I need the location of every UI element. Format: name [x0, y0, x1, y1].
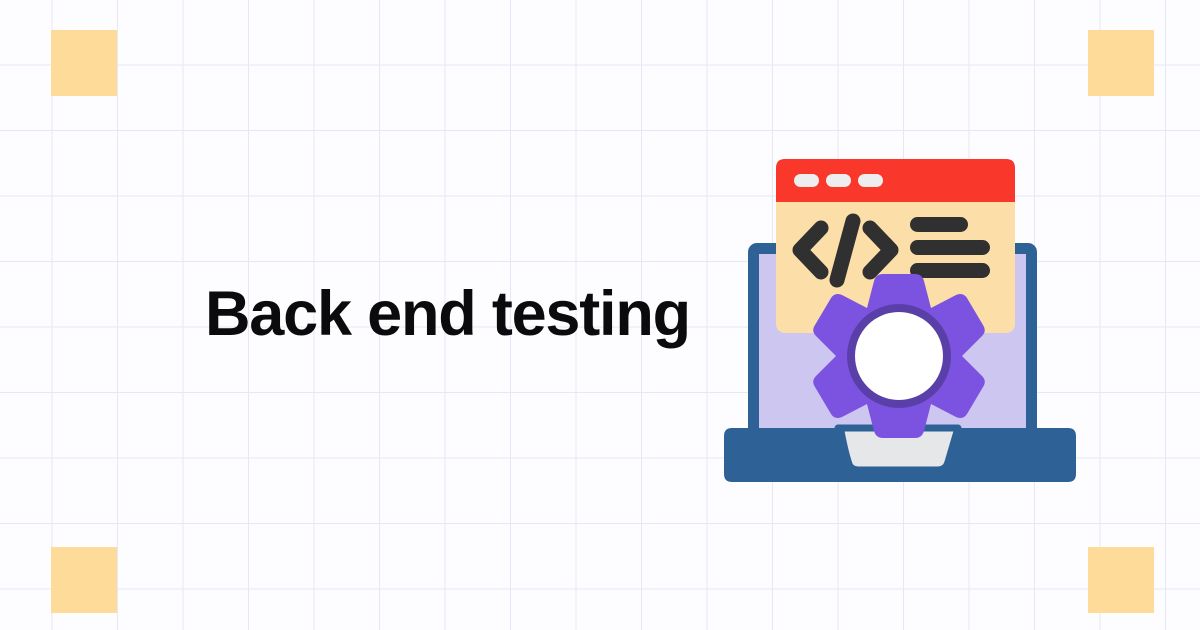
accent-square-top-right	[1088, 30, 1154, 96]
content-line-3	[910, 263, 990, 278]
gear-center	[855, 312, 943, 400]
laptop-code-gear-illustration	[720, 140, 1080, 490]
content-line-1	[910, 217, 968, 232]
browser-dot-minimize	[826, 174, 851, 187]
accent-square-bottom-right	[1088, 547, 1154, 613]
gear-icon	[813, 274, 985, 438]
accent-square-bottom-left	[51, 547, 117, 613]
page-canvas: Back end testing	[0, 0, 1200, 630]
browser-dot-close	[794, 174, 819, 187]
content-line-2	[910, 240, 990, 255]
accent-square-top-left	[51, 30, 117, 96]
browser-dot-maximize	[858, 174, 883, 187]
illustration-svg	[720, 140, 1080, 490]
page-title: Back end testing	[205, 283, 690, 346]
